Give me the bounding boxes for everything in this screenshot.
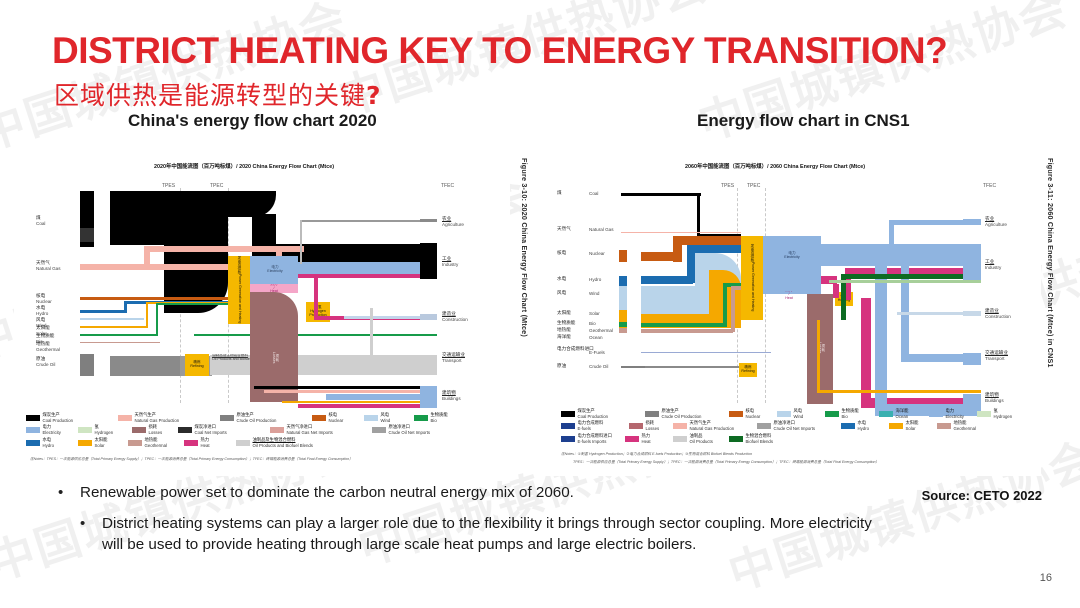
legend-item: 天然气生产Natural Gas Production (118, 414, 214, 423)
legend-item: 地热能Geothermal (128, 439, 178, 448)
legend-swatch (929, 411, 943, 417)
right-flow-bio (619, 322, 627, 327)
legend-swatch (372, 427, 386, 433)
right-axis-tpec: TPEC (747, 183, 760, 189)
legend-swatch (78, 427, 92, 433)
right-node-heat-label: 热力/Heat (767, 291, 811, 299)
right-endcap-transport (963, 353, 981, 365)
left-chart-title: 2020年中国能流图（百万吨标煤）/ 2020 China Energy Flo… (154, 162, 334, 170)
left-axis-tfec: TFEC (441, 183, 454, 189)
legend-item: 核电Nuclear (729, 410, 771, 419)
right-flow-hydro-top (687, 245, 741, 253)
legend-swatch (825, 411, 839, 417)
legend-item: 油制品及生物混合燃料Oil Products and Biofuel Blend… (236, 439, 344, 448)
right-source-label-wind-en: Wind (589, 292, 599, 297)
right-flow-solar-buildings-riser (817, 320, 820, 392)
left-chart-notes: 注Notes：TPES：一次能源供应总量（Total Primary Energ… (30, 457, 353, 462)
left-chart-panel: 2020年中国能流图（百万吨标煤）/ 2020 China Energy Flo… (14, 158, 510, 476)
left-flow-geothermal (80, 342, 160, 343)
left-flow-buildings-heat (298, 404, 437, 408)
left-source-label-nuclear: 核电Nuclear (36, 295, 52, 305)
slide-title-cn: 区域供热是能源转型的关键? (54, 76, 382, 112)
subtitle-left-chart: China's energy flow chart 2020 (128, 111, 377, 131)
legend-swatch (561, 436, 575, 442)
right-source-label-naturalgas: 天然气 (557, 228, 571, 233)
right-flow-geothermal-top (731, 286, 741, 290)
left-flow-solar (80, 326, 148, 328)
legend-swatch (673, 436, 687, 442)
right-flow-heat-main (833, 284, 839, 298)
legend-item: 电力Electricity (26, 426, 72, 435)
right-axis-tfec: TFEC (983, 183, 996, 189)
slide-title-cn-question: ? (366, 81, 382, 110)
legend-swatch (26, 427, 40, 433)
legend-swatch (312, 415, 326, 421)
right-source-label-hydro-en: Hydro (589, 278, 601, 283)
right-flow-electricity-agri-riser (889, 220, 894, 246)
right-source-label-bio: 生物质能 (557, 322, 575, 327)
right-node-losses: 损耗Losses (811, 328, 831, 368)
right-demand-label-transport: 交通运输业Transport (985, 352, 1008, 362)
right-source-label-crudeoil-en: Crude Oil (589, 365, 608, 370)
left-endcap-transport (420, 355, 437, 368)
legend-item: 煤炭净进口Coal Net Imports (178, 426, 264, 435)
right-demand-label-construction: 建造业Construction (985, 310, 1011, 320)
right-source-label-bio-en: Bio (589, 322, 596, 327)
legend-item: 风电Wind (777, 410, 819, 419)
left-flow-bio-top (156, 303, 228, 305)
legend-item: 水电Hydro (841, 422, 883, 431)
left-flow-coal-industry-corner (252, 214, 276, 246)
left-flow-buildings-solar (282, 401, 437, 403)
right-flow-hydro (619, 276, 627, 286)
legend-item: 热力Heat (625, 435, 667, 444)
bullet-marker: • (80, 514, 102, 556)
right-flow-geothermal (619, 328, 627, 333)
legend-swatch (561, 411, 575, 417)
legend-swatch (26, 415, 40, 421)
right-flow-coal-drop (697, 193, 700, 235)
slide-title-cn-text: 区域供热是能源转型的关键 (54, 81, 366, 110)
legend-swatch (937, 423, 951, 429)
legend-swatch (414, 415, 428, 421)
right-axis-tpes: TPES (721, 183, 734, 189)
left-demand-label-buildings: 建筑物Buildings (442, 392, 461, 402)
right-chart-caption: Figure 3-11: 2060 China Energy Flow Char… (1046, 158, 1055, 368)
legend-item: 生物质能Bio (414, 414, 464, 423)
right-flow-geothermal-run (641, 329, 733, 333)
left-node-refining: 精炼Refining (185, 354, 209, 376)
left-source-label-coal: 煤Coal (36, 217, 45, 227)
left-axis-tpec: TPEC (210, 183, 223, 189)
left-flow-heat-industry (298, 274, 437, 278)
left-flow-buildings-gas (264, 390, 437, 393)
legend-swatch (879, 411, 893, 417)
left-node-electricity: 电力Electricity (252, 258, 298, 282)
legend-item: 水电Hydro (26, 439, 72, 448)
left-flow-hydro (80, 310, 126, 313)
right-source-label-geothermal: 地热能 (557, 329, 571, 334)
left-chart-caption: Figure 3-10: 2020 China Energy Flow Char… (520, 158, 529, 337)
legend-swatch (729, 436, 743, 442)
bullet-list: • Renewable power set to dominate the ca… (58, 483, 888, 566)
left-source-label-crudeoil: 原油Crude Oil (36, 358, 55, 368)
legend-item: 天然气生产Natural Gas Production (673, 422, 751, 431)
legend-swatch (220, 415, 234, 421)
right-chart-title: 2060年中国能流图（百万吨标煤）/ 2060 China Energy Flo… (685, 162, 865, 170)
legend-swatch (561, 423, 575, 429)
left-endcap-industry (420, 243, 437, 279)
right-flow-electricity-industry (821, 244, 981, 266)
left-flow-bio (80, 334, 158, 336)
bullet-item: • Renewable power set to dominate the ca… (58, 483, 888, 504)
legend-item: 原油生产Crude Oil Production (645, 410, 723, 419)
right-source-label-coal: 煤 (557, 192, 562, 197)
left-flow-agriculture (300, 220, 437, 222)
left-node-power-generation: 发电及供热 Power Generation and Heating (228, 256, 250, 324)
right-flow-hydro-run (641, 276, 693, 284)
legend-swatch (118, 415, 132, 421)
legend-item: 氢Hydrogen (977, 410, 1021, 419)
right-demand-label-buildings: 建筑物Buildings (985, 394, 1004, 404)
right-flow-nuclear-run (641, 252, 677, 261)
right-flow-nuclear-top (673, 236, 741, 245)
right-flow-bio-run (641, 323, 725, 327)
left-endcap-construction (420, 314, 437, 320)
legend-item: 电力合成燃料E-fuels (561, 422, 623, 431)
legend-item: 天然气净进口Natural Gas Net Imports (270, 426, 366, 435)
left-source-label-hydro: 水电Hydro (36, 307, 48, 317)
left-endcap-agriculture (420, 219, 437, 222)
bullet-item: • District heating systems can play a la… (80, 514, 888, 556)
legend-swatch (178, 427, 192, 433)
left-flow-crudeoil-main (110, 356, 180, 376)
right-flow-bio-industry (841, 274, 981, 279)
legend-swatch (236, 440, 250, 446)
right-source-label-nuclear-en: Nuclear (589, 252, 605, 257)
right-source-label-naturalgas-en: Natural Gas (589, 228, 614, 233)
right-flow-coal-run (645, 193, 701, 196)
legend-swatch (645, 411, 659, 417)
slide-title-en: DISTRICT HEATING KEY TO ENERGY TRANSITIO… (52, 30, 947, 72)
legend-item: 风电Wind (364, 414, 408, 423)
left-flow-electricity-industry (298, 262, 437, 274)
right-flow-solar-buildings (817, 390, 981, 393)
right-demand-label-agriculture: 农业Agriculture (985, 218, 1007, 228)
left-demand-label-transport: 交通运输业Transport (442, 354, 465, 364)
left-flow-heat-down (314, 274, 318, 320)
legend-item: 生物混合燃料Biofuel Blends (729, 435, 791, 444)
legend-swatch (629, 423, 643, 429)
right-flow-heat-buildings-riser (861, 298, 871, 402)
right-source-label-nuclear: 核电 (557, 252, 566, 257)
left-flow-agriculture-riser (300, 220, 302, 264)
right-source-label-coal-en: Coal (589, 192, 598, 197)
right-source-label-ocean: 海洋能 (557, 336, 571, 341)
legend-item: 煤炭生产Coal Production (561, 410, 639, 419)
legend-swatch (977, 411, 991, 417)
legend-item: 海洋能Ocean (879, 410, 923, 419)
legend-swatch (184, 440, 198, 446)
left-flow-transport-riser (370, 308, 373, 360)
legend-item: 地热能Geothermal (937, 422, 985, 431)
right-endcap-industry (963, 244, 981, 280)
legend-item: 损耗Losses (629, 422, 667, 431)
source-label: Source: CETO 2022 (922, 488, 1042, 503)
right-source-label-solar-en: Solar (589, 312, 600, 317)
right-chart-notes-line2: TPES：一次能源供应总量（Total Primary Energy Suppl… (573, 460, 879, 465)
slide-root: 中国城镇供热协会 中国城镇供热协会 中国城镇供热协会 中国城镇供热协会 中国城镇… (0, 0, 1080, 608)
right-source-label-ocean-en: Ocean (589, 336, 603, 341)
legend-swatch (132, 427, 146, 433)
legend-item: 原油生产Crude Oil Production (220, 414, 306, 423)
right-node-power-generation: 发电及供热 Power Generation and Heating (741, 236, 763, 320)
left-axis-tpes: TPES (162, 183, 175, 189)
page-number: 16 (1040, 572, 1052, 584)
right-chart-notes-line1: 注Notes：①制氢 Hydrogen Production；②电力合成燃料 E… (561, 452, 752, 457)
legend-item: 煤炭生产Coal Production (26, 414, 112, 423)
legend-item: 原油净进口Crude Oil Net Imports (372, 426, 458, 435)
left-flow-naturalgas (80, 264, 228, 270)
right-node-refining: 精炼Refining (739, 363, 757, 377)
bullet-text: Renewable power set to dominate the carb… (80, 483, 574, 504)
right-chart-legend: 煤炭生产Coal Production 原油生产Crude Oil Produc… (561, 410, 1039, 447)
left-demand-label-agriculture: 农业Agriculture (442, 218, 464, 228)
legend-swatch (78, 440, 92, 446)
left-endcap-buildings (420, 386, 437, 408)
legend-swatch (729, 411, 743, 417)
right-flow-electricity-buildings-riser (875, 266, 887, 408)
legend-item: 生物质能Bio (825, 410, 873, 419)
left-node-losses: 损耗Losses (260, 338, 290, 378)
left-source-label-geothermal: 地热能Geothermal (36, 343, 60, 353)
right-source-label-geothermal-en: Geothermal (589, 329, 613, 334)
right-chart-panel: 2060年中国能流图（百万吨标煤）/ 2060 China Energy Flo… (545, 158, 1041, 476)
left-flow-coal-imports (80, 228, 94, 242)
right-source-label-crudeoil: 原油 (557, 365, 566, 370)
legend-swatch (757, 423, 771, 429)
left-flow-bio-buildings (194, 334, 437, 336)
legend-item: 油制品Oil Products (673, 435, 723, 444)
right-source-label-solar: 太阳能 (557, 312, 571, 317)
right-endcap-agriculture (963, 219, 981, 224)
right-source-label-wind: 风电 (557, 292, 566, 297)
right-source-label-efuels-en: E-Fuels (589, 351, 605, 356)
legend-item: 太阳能Solar (78, 439, 122, 448)
right-demand-label-industry: 工业Industry (985, 261, 1001, 271)
legend-swatch (673, 423, 687, 429)
left-flow-buildings-coal (254, 386, 437, 389)
left-flow-coal-to-tfec (110, 191, 182, 215)
legend-item: 电力合成燃料进口E-fuels Imports (561, 435, 619, 444)
legend-item: 氢Hydrogen (78, 426, 126, 435)
legend-item: 热力Heat (184, 439, 230, 448)
right-source-label-hydro: 水电 (557, 278, 566, 283)
left-flow-wind (80, 318, 144, 320)
right-endcap-construction (963, 311, 981, 316)
legend-swatch (625, 436, 639, 442)
right-flow-bio-riser (723, 283, 727, 327)
legend-swatch (26, 440, 40, 446)
bullet-text: District heating systems can play a larg… (102, 514, 888, 556)
left-flow-solar-up (146, 302, 148, 328)
right-flow-nuclear (619, 250, 627, 262)
left-source-label-naturalgas: 天然气Natural Gas (36, 262, 61, 272)
right-flow-efuels (641, 352, 771, 353)
right-flow-crudeoil-run (645, 366, 741, 368)
legend-swatch (889, 423, 903, 429)
legend-item: 损耗Losses (132, 426, 172, 435)
right-flow-geothermal-riser (731, 286, 735, 332)
legend-swatch (777, 411, 791, 417)
left-demand-label-construction: 建造业Construction (442, 313, 468, 323)
right-flow-naturalgas (621, 232, 741, 233)
left-chart-legend: 煤炭生产Coal Production 天然气生产Natural Gas Pro… (26, 414, 496, 451)
legend-item: 核电Nuclear (312, 414, 358, 423)
legend-item: 电力Electricity (929, 410, 971, 419)
legend-item: 原油净进口Crude Oil Net Imports (757, 422, 835, 431)
right-flow-hydrogen-industry (829, 280, 981, 283)
right-axis-divider (765, 188, 766, 403)
left-demand-label-industry: 工业Industry (442, 258, 458, 268)
right-node-electricity: 电力Electricity (767, 246, 817, 266)
legend-item: 太阳能Solar (889, 422, 931, 431)
left-flow-nuclear (80, 297, 228, 300)
legend-swatch (841, 423, 855, 429)
legend-swatch (128, 440, 142, 446)
legend-swatch (270, 427, 284, 433)
legend-swatch (364, 415, 378, 421)
left-flow-crudeoil (80, 354, 94, 376)
bullet-marker: • (58, 483, 80, 504)
left-flow-bio-up (156, 303, 158, 336)
subtitle-right-chart: Energy flow chart in CNS1 (697, 111, 910, 131)
